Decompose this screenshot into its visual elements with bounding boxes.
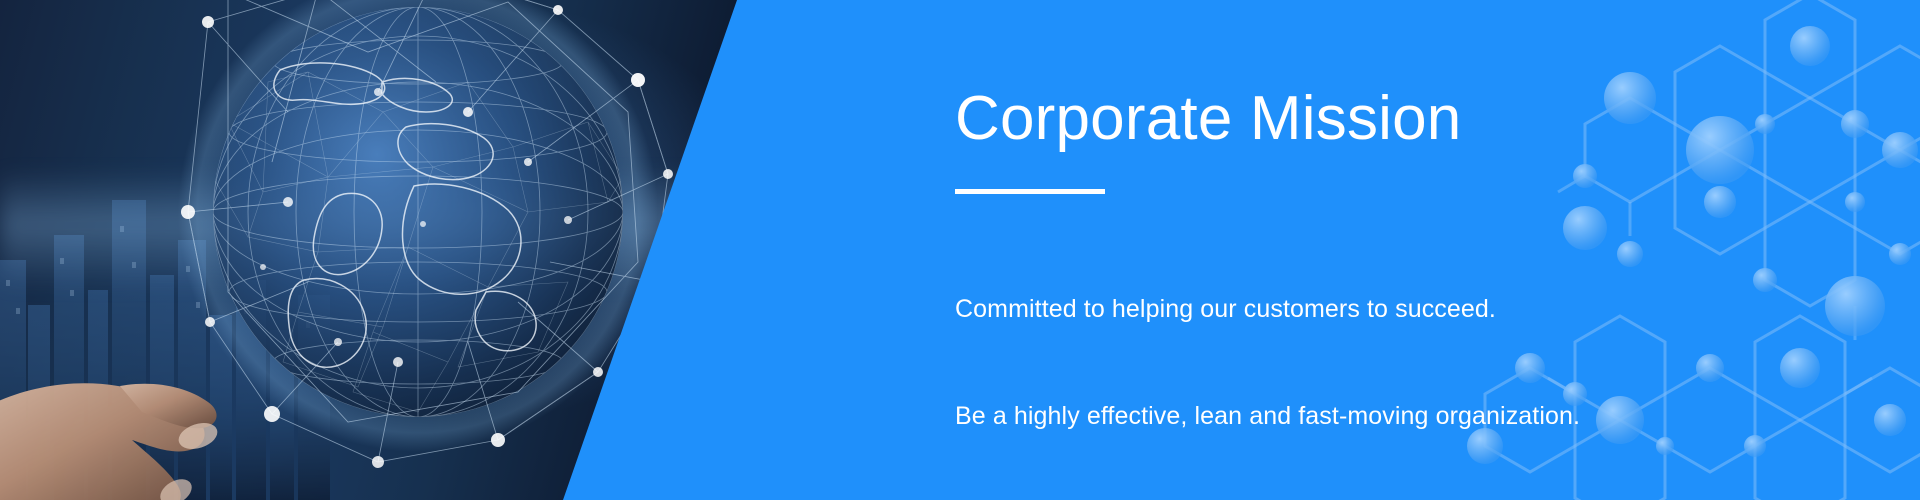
corporate-mission-banner: Corporate Mission Committed to helping o…: [0, 0, 1920, 500]
mission-line: Be a highly effective, lean and fast-mov…: [955, 399, 1675, 435]
title-divider: [955, 189, 1105, 194]
page-title: Corporate Mission: [955, 86, 1675, 151]
mission-text-block: Corporate Mission Committed to helping o…: [955, 86, 1675, 500]
mission-line: Committed to helping our customers to su…: [955, 292, 1675, 328]
hand-image: [0, 260, 340, 500]
mission-statement-list: Committed to helping our customers to su…: [955, 220, 1675, 500]
